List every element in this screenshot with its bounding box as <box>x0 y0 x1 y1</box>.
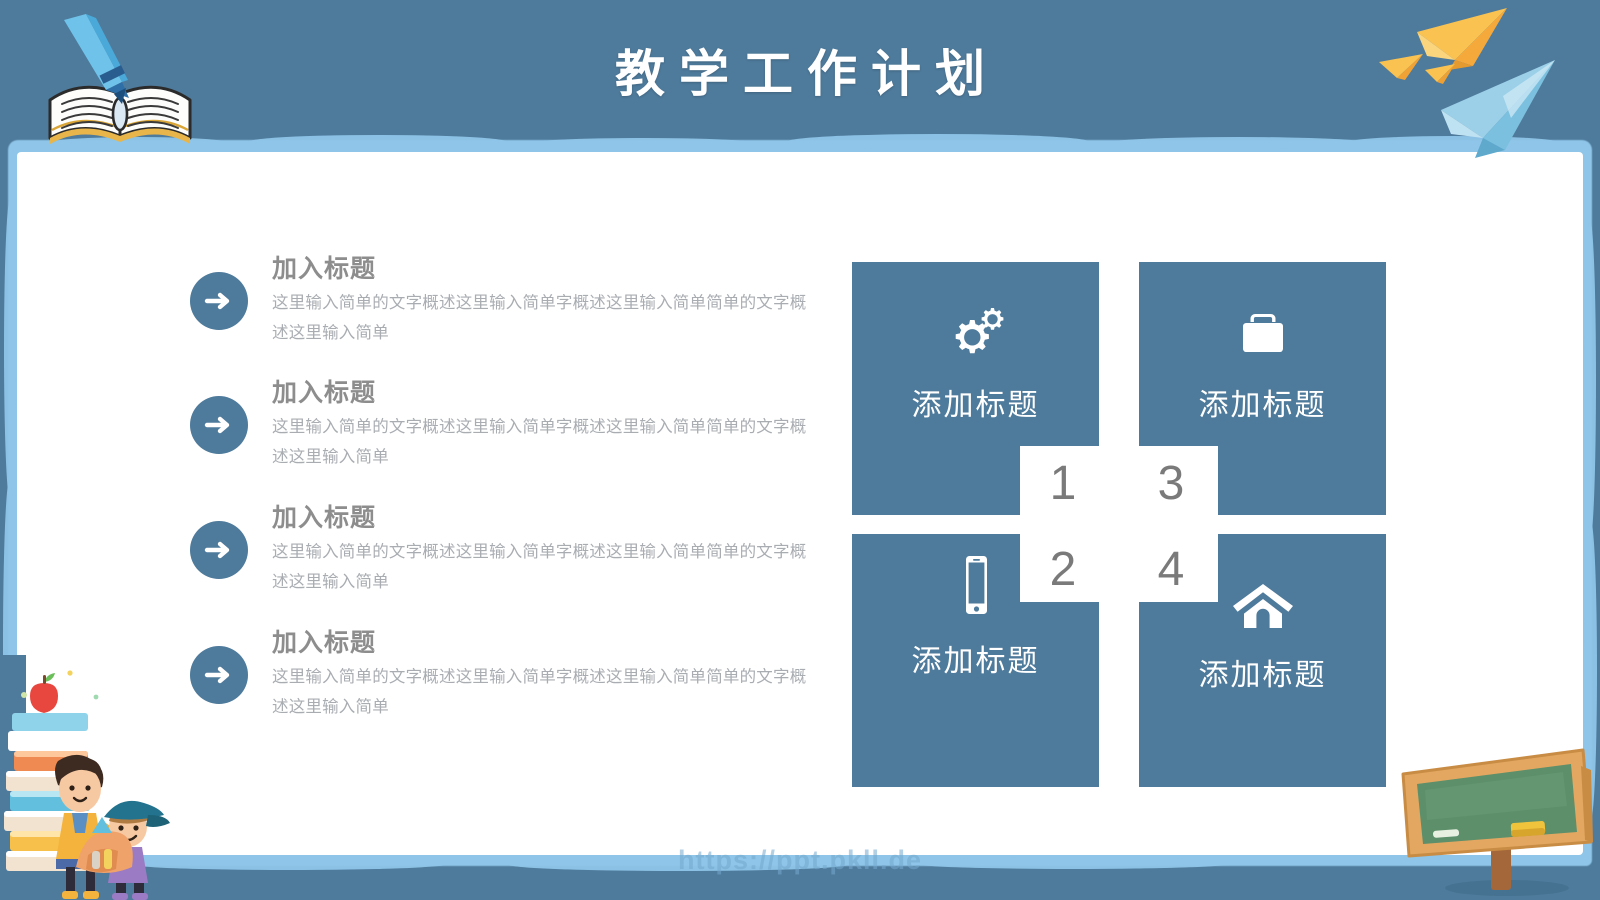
list-item-text: 这里输入简单的文字概述这里输入简单字概述这里输入简单简单的文字概述这里输入简单 <box>272 412 820 472</box>
tile-label: 添加标题 <box>1199 650 1327 694</box>
smartphone-icon <box>953 562 999 618</box>
brush-streak <box>3 480 16 810</box>
list-item-heading: 加入标题 <box>272 379 820 408</box>
tile-number-4: 4 <box>1135 546 1207 594</box>
slide-canvas: 教学工作计划 加入标题 这里输入简单的文字概述这里输入简 <box>0 0 1600 900</box>
arrow-right-circle-icon[interactable] <box>190 521 248 579</box>
briefcase-icon <box>1232 306 1294 362</box>
list-item[interactable]: 加入标题 这里输入简单的文字概述这里输入简单字概述这里输入简单简单的文字概述这里… <box>182 255 822 375</box>
tile-label: 添加标题 <box>912 636 1040 680</box>
tile-number-3: 3 <box>1135 460 1207 508</box>
tile-grid: 添加标题 添加标题 <box>852 262 1386 770</box>
list-item[interactable]: 加入标题 这里输入简单的文字概述这里输入简单字概述这里输入简单简单的文字概述这里… <box>182 379 822 499</box>
feature-list: 加入标题 这里输入简单的文字概述这里输入简单字概述这里输入简单简单的文字概述这里… <box>182 255 822 775</box>
tile-number-2: 2 <box>1027 546 1099 594</box>
list-item[interactable]: 加入标题 这里输入简单的文字概述这里输入简单字概述这里输入简单简单的文字概述这里… <box>182 504 822 624</box>
page-title: 教学工作计划 <box>601 34 999 106</box>
tile-number-1: 1 <box>1027 460 1099 508</box>
brush-streak <box>1584 520 1597 820</box>
list-item-body: 加入标题 这里输入简单的文字概述这里输入简单字概述这里输入简单简单的文字概述这里… <box>272 255 820 348</box>
list-item-body: 加入标题 这里输入简单的文字概述这里输入简单字概述这里输入简单简单的文字概述这里… <box>272 504 820 597</box>
brush-streak <box>1584 220 1596 540</box>
list-item-heading: 加入标题 <box>272 504 820 533</box>
notch-horizontal-gutter <box>852 515 1386 534</box>
tile-label: 添加标题 <box>912 380 1040 424</box>
brush-streak <box>4 200 16 500</box>
list-item-text: 这里输入简单的文字概述这里输入简单字概述这里输入简单简单的文字概述这里输入简单 <box>272 662 820 722</box>
gears-icon <box>944 306 1008 362</box>
list-item-text: 这里输入简单的文字概述这里输入简单字概述这里输入简单简单的文字概述这里输入简单 <box>272 288 820 348</box>
title-bar: 教学工作计划 <box>0 0 1600 140</box>
home-icon <box>1231 576 1295 632</box>
list-item-heading: 加入标题 <box>272 629 820 658</box>
arrow-right-circle-icon[interactable] <box>190 396 248 454</box>
list-item[interactable]: 加入标题 这里输入简单的文字概述这里输入简单字概述这里输入简单简单的文字概述这里… <box>182 629 822 749</box>
list-item-body: 加入标题 这里输入简单的文字概述这里输入简单字概述这里输入简单简单的文字概述这里… <box>272 379 820 472</box>
list-item-text: 这里输入简单的文字概述这里输入简单字概述这里输入简单简单的文字概述这里输入简单 <box>272 537 820 597</box>
list-item-body: 加入标题 这里输入简单的文字概述这里输入简单字概述这里输入简单简单的文字概述这里… <box>272 629 820 722</box>
arrow-right-circle-icon[interactable] <box>190 646 248 704</box>
arrow-right-circle-icon[interactable] <box>190 272 248 330</box>
list-item-heading: 加入标题 <box>272 255 820 284</box>
watermark: https://ppt.pkll.de <box>0 845 1600 876</box>
tile-label: 添加标题 <box>1199 380 1327 424</box>
